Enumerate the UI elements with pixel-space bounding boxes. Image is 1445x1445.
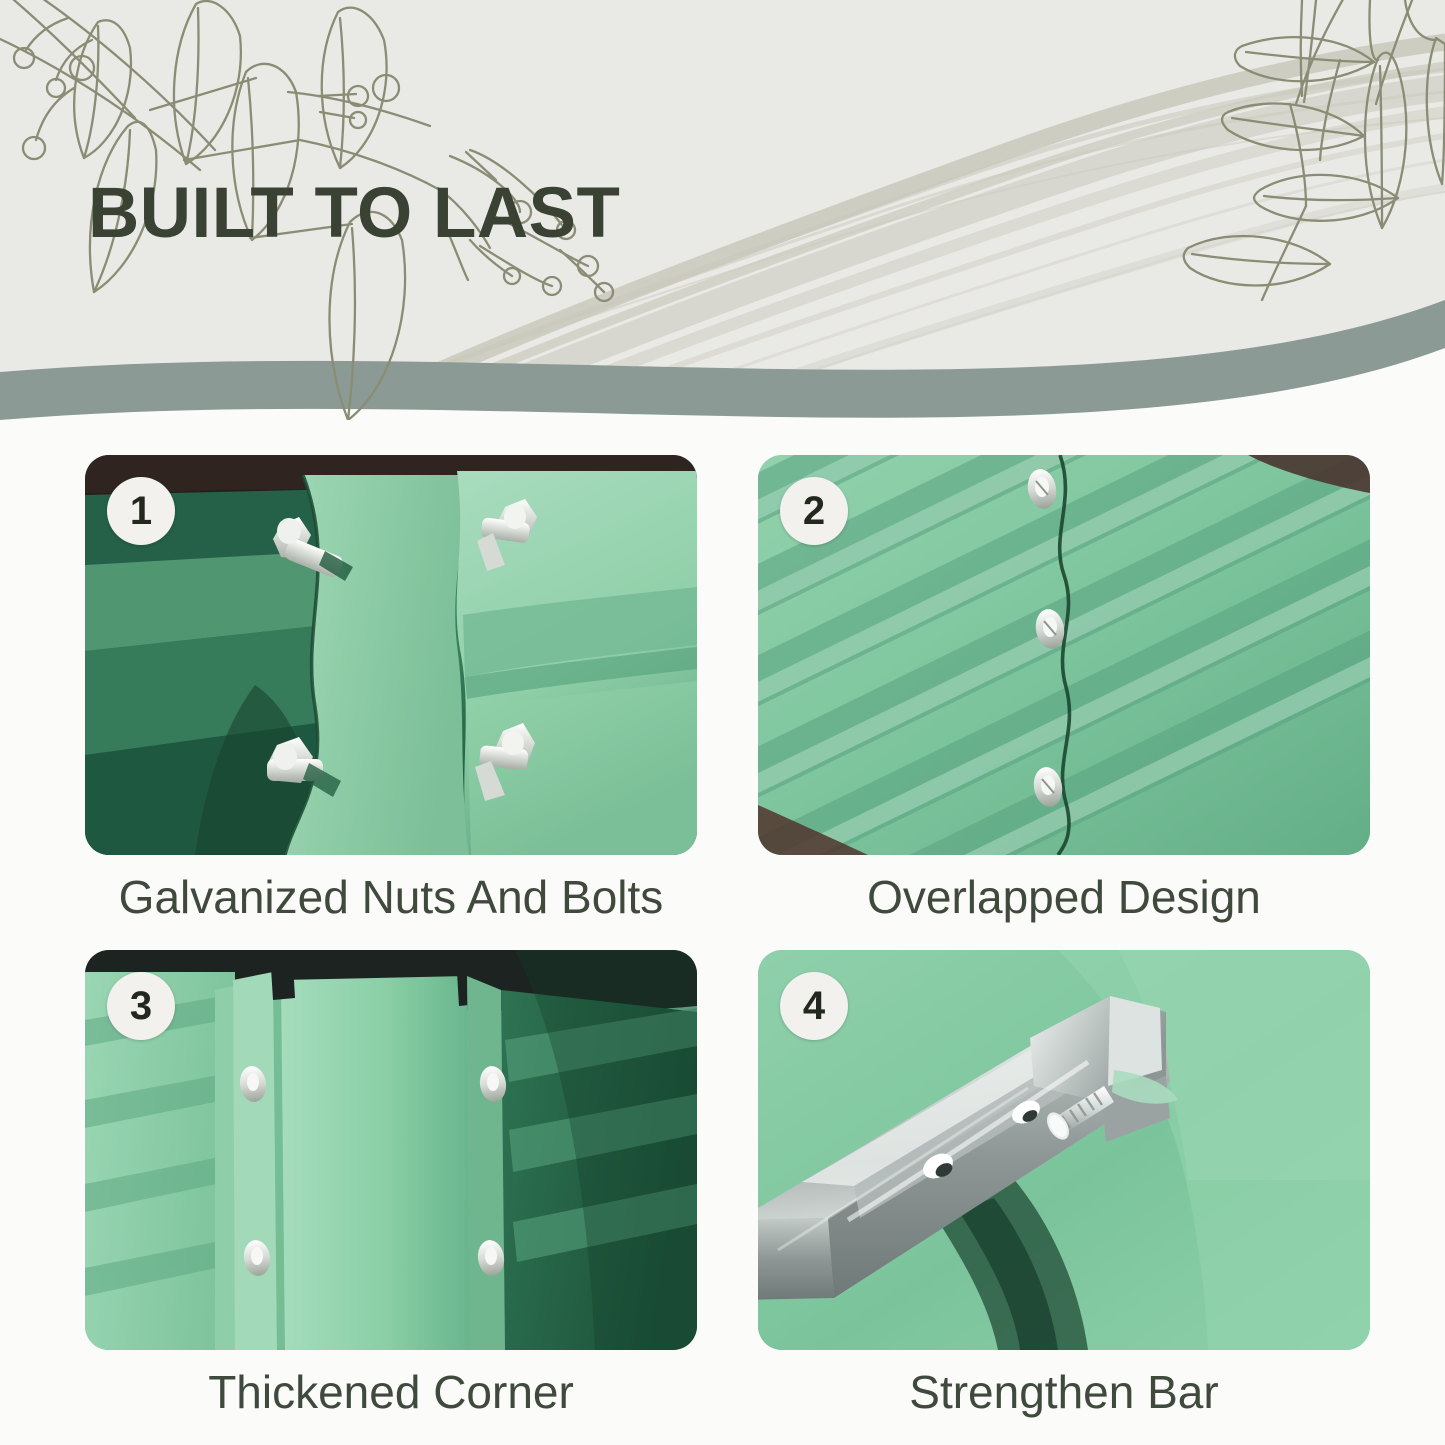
feature-photo-3: 3 (85, 950, 697, 1350)
feature-badge-2: 2 (780, 477, 848, 545)
feature-photo-1: 1 (85, 455, 697, 855)
feature-photo-4: 4 (758, 950, 1370, 1350)
feature-card-3[interactable]: 3 Thickened Corner (85, 950, 697, 1430)
nuts-and-bolts-photo (85, 455, 697, 855)
feature-card-4[interactable]: 4 Strengthen Bar (758, 950, 1370, 1430)
strengthen-bar-photo (758, 950, 1370, 1350)
feature-badge-4: 4 (780, 972, 848, 1040)
feature-badge-1: 1 (107, 477, 175, 545)
infographic-page: BUILT TO LAST (0, 0, 1445, 1445)
page-title: BUILT TO LAST (88, 178, 620, 249)
feature-caption-3: Thickened Corner (85, 1365, 697, 1419)
feature-card-1[interactable]: 1 Galvanized Nuts And Bolts (85, 455, 697, 935)
feature-photo-2: 2 (758, 455, 1370, 855)
feature-card-2[interactable]: 2 Overlapped Design (758, 455, 1370, 935)
feature-badge-3: 3 (107, 972, 175, 1040)
overlapped-design-photo (758, 455, 1370, 855)
feature-grid: 1 Galvanized Nuts And Bolts (0, 420, 1445, 1445)
feature-caption-2: Overlapped Design (758, 870, 1370, 924)
feature-caption-1: Galvanized Nuts And Bolts (85, 870, 697, 924)
feature-caption-4: Strengthen Bar (758, 1365, 1370, 1419)
thickened-corner-photo (85, 950, 697, 1350)
header-banner: BUILT TO LAST (0, 0, 1445, 420)
